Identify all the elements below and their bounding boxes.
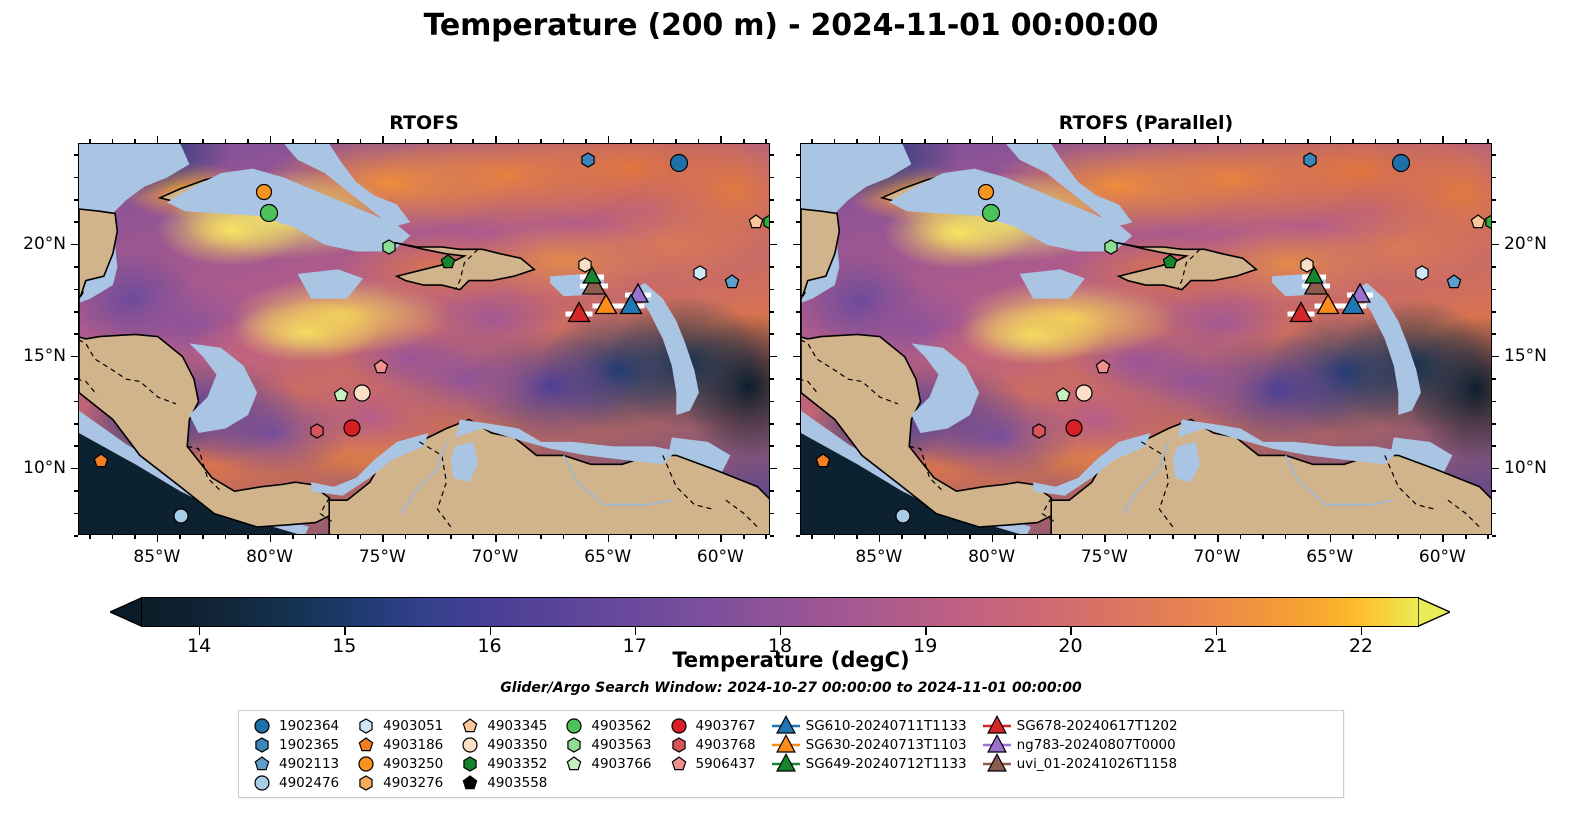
y-axis-ticklabel: 20°N	[0, 234, 66, 254]
x-axis-major-tick	[879, 136, 881, 143]
map-marker-4903768[interactable]	[1029, 421, 1049, 441]
x-axis-minor-tick	[89, 139, 91, 143]
hexagon-marker-icon	[557, 735, 591, 755]
colorbar-label: Temperature (degC)	[0, 648, 1582, 672]
x-axis-minor-tick	[315, 139, 317, 143]
y-axis-minor-tick	[74, 154, 78, 156]
x-axis-minor-tick	[834, 535, 836, 539]
x-axis-minor-tick	[1059, 535, 1061, 539]
x-axis-minor-tick	[1240, 139, 1242, 143]
x-axis-minor-tick	[743, 139, 745, 143]
legend-item[interactable]: uvi_01-20241026T1158	[977, 754, 1188, 773]
map-marker-4903350b[interactable]	[1073, 382, 1095, 404]
map-canvas-rtofs[interactable]	[78, 143, 770, 535]
x-axis-minor-tick	[1059, 139, 1061, 143]
y-axis-minor-tick	[1492, 378, 1496, 380]
legend-item[interactable]: 4903766	[557, 754, 661, 773]
x-axis-ticklabel: 60°W	[1419, 547, 1466, 567]
x-axis-ticklabel: 75°W	[1081, 547, 1128, 567]
x-axis-minor-tick	[653, 139, 655, 143]
y-axis-minor-tick	[770, 199, 774, 201]
legend-item[interactable]: 5906437	[662, 754, 766, 773]
legend-item[interactable]: 4903562	[557, 716, 661, 735]
legend-item-label: SG610-20240711T1133	[806, 718, 977, 734]
pentagon-marker-icon	[349, 735, 383, 755]
map-canvas-rtofs-parallel[interactable]	[800, 143, 1492, 535]
colorbar-tick	[344, 627, 345, 635]
x-axis-minor-tick	[1375, 535, 1377, 539]
legend-item[interactable]: 4902476	[245, 773, 349, 792]
y-axis-minor-tick	[796, 423, 800, 425]
x-axis-major-tick	[382, 535, 384, 542]
legend-item-label: 5906437	[696, 756, 766, 772]
y-axis-minor-tick	[770, 177, 774, 179]
legend-empty-cell	[662, 773, 766, 792]
x-axis-major-tick	[1104, 136, 1106, 143]
map-panel-rtofs[interactable]: RTOFS 85°W80°W75°W70°W65°W60°W1	[78, 143, 770, 535]
legend-item[interactable]: 1902365	[245, 735, 349, 754]
x-axis-major-tick	[382, 136, 384, 143]
legend-item-label: 4903768	[696, 737, 766, 753]
map-marker-4903766[interactable]	[331, 385, 351, 405]
x-axis-minor-tick	[1487, 535, 1489, 539]
x-axis-minor-tick	[179, 139, 181, 143]
y-axis-minor-tick	[796, 401, 800, 403]
map-marker-4902476[interactable]	[171, 506, 191, 526]
legend-item[interactable]: 4902113	[245, 754, 349, 773]
x-axis-minor-tick	[1307, 535, 1309, 539]
legend-item-label: 4903051	[383, 718, 453, 734]
y-axis-minor-tick	[770, 513, 774, 515]
y-axis-minor-tick	[770, 311, 774, 313]
y-axis-minor-tick	[770, 535, 774, 537]
legend-item-label: 4903345	[487, 718, 557, 734]
y-axis-minor-tick	[1492, 513, 1496, 515]
legend-item-label: SG678-20240617T1202	[1017, 718, 1188, 734]
y-axis-minor-tick	[1492, 535, 1496, 537]
x-axis-ticklabel: 70°W	[472, 547, 519, 567]
x-axis-minor-tick	[1397, 139, 1399, 143]
y-axis-minor-tick	[1492, 266, 1496, 268]
y-axis-major-tick	[793, 356, 800, 358]
x-axis-major-tick	[1104, 535, 1106, 542]
x-axis-minor-tick	[1194, 535, 1196, 539]
legend-item-label: 1902365	[279, 737, 349, 753]
coastline-overlay	[79, 144, 770, 535]
x-axis-minor-tick	[112, 535, 114, 539]
y-axis-major-tick	[770, 468, 777, 470]
x-axis-minor-tick	[811, 139, 813, 143]
x-axis-minor-tick	[540, 139, 542, 143]
triangle-marker-icon	[977, 753, 1017, 775]
x-axis-minor-tick	[947, 139, 949, 143]
x-axis-minor-tick	[247, 535, 249, 539]
circle-marker-icon	[662, 716, 696, 736]
y-axis-ticklabel: 10°N	[1504, 458, 1570, 478]
y-axis-minor-tick	[770, 401, 774, 403]
y-axis-minor-tick	[796, 311, 800, 313]
legend-item[interactable]: 4903767	[662, 716, 766, 735]
x-axis-minor-tick	[1307, 139, 1309, 143]
x-axis-minor-tick	[969, 535, 971, 539]
legend-item-label: 4902113	[279, 756, 349, 772]
legend-item[interactable]: 4903051	[349, 716, 453, 735]
x-axis-major-tick	[720, 535, 722, 542]
search-window-text: Glider/Argo Search Window: 2024-10-27 00…	[0, 680, 1582, 696]
hexagon-marker-icon	[349, 716, 383, 736]
x-axis-minor-tick	[337, 535, 339, 539]
y-axis-minor-tick	[74, 333, 78, 335]
map-marker-4903186[interactable]	[813, 451, 833, 471]
legend-item[interactable]: 4903558	[453, 773, 557, 792]
map-marker-4903562[interactable]	[257, 201, 280, 224]
y-axis-ticklabel: 15°N	[0, 346, 66, 366]
map-marker-SG649[interactable]	[578, 265, 606, 287]
map-marker-1902365[interactable]	[1300, 150, 1320, 170]
x-axis-major-tick	[495, 136, 497, 143]
hexagon-marker-icon	[349, 773, 383, 793]
x-axis-minor-tick	[901, 139, 903, 143]
y-axis-minor-tick	[770, 266, 774, 268]
map-marker-4903767[interactable]	[341, 417, 363, 439]
y-axis-minor-tick	[796, 333, 800, 335]
legend-item-label: 4903562	[591, 718, 661, 734]
legend-item[interactable]: SG678-20240617T1202	[977, 716, 1188, 735]
y-axis-ticklabel: 15°N	[1504, 346, 1570, 366]
x-axis-minor-tick	[765, 535, 767, 539]
x-axis-ticklabel: 80°W	[246, 547, 293, 567]
x-axis-minor-tick	[405, 139, 407, 143]
x-axis-minor-tick	[405, 535, 407, 539]
x-axis-minor-tick	[1127, 535, 1129, 539]
x-axis-minor-tick	[202, 535, 204, 539]
x-axis-minor-tick	[811, 535, 813, 539]
y-axis-minor-tick	[770, 154, 774, 156]
colorbar-tick	[635, 627, 636, 635]
y-axis-minor-tick	[796, 289, 800, 291]
map-marker-SG649[interactable]	[1300, 265, 1328, 287]
map-marker-4902476[interactable]	[893, 506, 913, 526]
x-axis-minor-tick	[901, 535, 903, 539]
y-axis-ticklabel: 10°N	[0, 458, 66, 478]
x-axis-minor-tick	[337, 139, 339, 143]
map-marker-1902364[interactable]	[1389, 151, 1412, 174]
y-axis-minor-tick	[770, 289, 774, 291]
x-axis-major-tick	[608, 535, 610, 542]
map-marker-4902113[interactable]	[1444, 272, 1464, 292]
x-axis-minor-tick	[1014, 535, 1016, 539]
y-axis-major-tick	[71, 356, 78, 358]
y-axis-minor-tick	[1492, 423, 1496, 425]
coastline-overlay	[801, 144, 1492, 535]
x-axis-major-tick	[270, 136, 272, 143]
y-axis-ticklabel: 20°N	[1504, 234, 1570, 254]
y-axis-minor-tick	[1492, 289, 1496, 291]
map-marker-4903562b[interactable]	[1482, 212, 1492, 232]
legend-item-label: 4903352	[487, 756, 557, 772]
y-axis-minor-tick	[74, 378, 78, 380]
map-marker-4903563[interactable]	[379, 237, 399, 257]
map-marker-4903562b[interactable]	[760, 212, 770, 232]
y-axis-minor-tick	[74, 401, 78, 403]
y-axis-minor-tick	[770, 445, 774, 447]
x-axis-minor-tick	[675, 139, 677, 143]
x-axis-major-tick	[157, 136, 159, 143]
y-axis-minor-tick	[1492, 333, 1496, 335]
map-marker-SG610[interactable]	[615, 292, 646, 317]
y-axis-minor-tick	[74, 423, 78, 425]
x-axis-minor-tick	[1487, 139, 1489, 143]
x-axis-minor-tick	[472, 139, 474, 143]
x-axis-minor-tick	[315, 535, 317, 539]
map-marker-4903186[interactable]	[91, 451, 111, 471]
x-axis-major-tick	[992, 136, 994, 143]
map-marker-4903352[interactable]	[438, 252, 458, 272]
legend-item-label: 4903767	[696, 718, 766, 734]
legend-item[interactable]: SG649-20240712T1133	[766, 754, 977, 773]
colorbar-gradient	[141, 597, 1419, 627]
x-axis-major-tick	[157, 535, 159, 542]
map-marker-SG610[interactable]	[1337, 292, 1368, 317]
map-marker-4902113[interactable]	[722, 272, 742, 292]
colorbar-extend-min	[110, 597, 142, 627]
legend-item-label: 4903250	[383, 756, 453, 772]
x-axis-major-tick	[270, 535, 272, 542]
x-axis-minor-tick	[585, 139, 587, 143]
y-axis-major-tick	[770, 356, 777, 358]
x-axis-minor-tick	[1240, 535, 1242, 539]
x-axis-ticklabel: 70°W	[1194, 547, 1241, 567]
y-axis-minor-tick	[1492, 221, 1496, 223]
map-panel-rtofs-parallel[interactable]: RTOFS (Parallel) 85°W80°W75°W70	[800, 143, 1492, 535]
map-marker-4903051[interactable]	[1412, 263, 1432, 283]
x-axis-minor-tick	[134, 535, 136, 539]
y-axis-major-tick	[71, 468, 78, 470]
legend-empty-cell	[766, 773, 977, 792]
y-axis-minor-tick	[770, 221, 774, 223]
panel-title-rtofs: RTOFS	[78, 112, 770, 134]
map-marker-4903563[interactable]	[1101, 237, 1121, 257]
legend-item-label: 1902364	[279, 718, 349, 734]
legend-item[interactable]: 4903250	[349, 754, 453, 773]
map-marker-4903352[interactable]	[1160, 252, 1180, 272]
map-marker-4903562[interactable]	[979, 201, 1002, 224]
x-axis-minor-tick	[1149, 535, 1151, 539]
colorbar: 141516171819202122	[110, 597, 1450, 627]
x-axis-minor-tick	[1465, 139, 1467, 143]
colorbar-tick	[780, 627, 781, 635]
y-axis-minor-tick	[1492, 311, 1496, 313]
colorbar-tick	[1216, 627, 1217, 635]
map-marker-1902365[interactable]	[578, 150, 598, 170]
x-axis-minor-tick	[563, 139, 565, 143]
legend-item-label: uvi_01-20241026T1158	[1017, 756, 1187, 772]
circle-marker-icon	[245, 716, 279, 736]
x-axis-minor-tick	[1262, 139, 1264, 143]
x-axis-minor-tick	[472, 535, 474, 539]
x-axis-minor-tick	[450, 139, 452, 143]
legend-item[interactable]: SG630-20240713T1103	[766, 735, 977, 754]
x-axis-minor-tick	[834, 139, 836, 143]
x-axis-minor-tick	[540, 535, 542, 539]
x-axis-minor-tick	[292, 535, 294, 539]
legend-item[interactable]: ng783-20240807T0000	[977, 735, 1188, 754]
x-axis-minor-tick	[1172, 139, 1174, 143]
x-axis-minor-tick	[765, 139, 767, 143]
y-axis-major-tick	[793, 468, 800, 470]
x-axis-ticklabel: 65°W	[584, 547, 631, 567]
y-axis-minor-tick	[74, 535, 78, 537]
x-axis-minor-tick	[1420, 139, 1422, 143]
map-marker-4903768[interactable]	[307, 421, 327, 441]
y-axis-minor-tick	[74, 513, 78, 515]
y-axis-minor-tick	[796, 535, 800, 537]
legend-item[interactable]: 4903186	[349, 735, 453, 754]
y-axis-minor-tick	[74, 266, 78, 268]
x-axis-minor-tick	[856, 139, 858, 143]
legend-empty-cell	[977, 773, 1188, 792]
x-axis-minor-tick	[1285, 139, 1287, 143]
colorbar-extend-max	[1418, 597, 1450, 627]
x-axis-minor-tick	[1352, 535, 1354, 539]
map-marker-5906437[interactable]	[1093, 357, 1113, 377]
legend-box[interactable]: 1902364190236549021134902476490305149031…	[238, 710, 1344, 798]
legend-item[interactable]: 4903563	[557, 735, 661, 754]
map-marker-SG678[interactable]	[563, 301, 594, 326]
x-axis-minor-tick	[202, 139, 204, 143]
x-axis-minor-tick	[518, 535, 520, 539]
map-marker-4903767[interactable]	[1063, 417, 1085, 439]
x-axis-minor-tick	[89, 535, 91, 539]
map-marker-5906437[interactable]	[371, 357, 391, 377]
y-axis-major-tick	[71, 244, 78, 246]
y-axis-minor-tick	[74, 311, 78, 313]
x-axis-minor-tick	[292, 139, 294, 143]
x-axis-minor-tick	[1014, 139, 1016, 143]
y-axis-major-tick	[1492, 468, 1499, 470]
legend-item[interactable]: 4903345	[453, 716, 557, 735]
legend-item[interactable]: 4903768	[662, 735, 766, 754]
colorbar-tick	[1070, 627, 1071, 635]
legend-item[interactable]: 4903350	[453, 735, 557, 754]
hexagon-marker-icon	[245, 735, 279, 755]
x-axis-minor-tick	[1037, 535, 1039, 539]
x-axis-minor-tick	[856, 535, 858, 539]
legend-item-label: 4903558	[487, 775, 557, 791]
map-marker-4903051[interactable]	[690, 263, 710, 283]
x-axis-minor-tick	[585, 535, 587, 539]
x-axis-major-tick	[1330, 136, 1332, 143]
legend-grid: 1902364190236549021134902476490305149031…	[245, 716, 1188, 792]
x-axis-minor-tick	[1375, 139, 1377, 143]
legend-empty-cell	[557, 773, 661, 792]
x-axis-minor-tick	[360, 535, 362, 539]
y-axis-minor-tick	[796, 378, 800, 380]
map-marker-1902364[interactable]	[667, 151, 690, 174]
y-axis-minor-tick	[770, 490, 774, 492]
map-marker-4903250[interactable]	[976, 181, 997, 202]
pentagon-marker-icon	[453, 716, 487, 736]
legend-item-label: ng783-20240807T0000	[1017, 737, 1186, 753]
y-axis-minor-tick	[1492, 445, 1496, 447]
x-axis-ticklabel: 75°W	[359, 547, 406, 567]
x-axis-minor-tick	[225, 535, 227, 539]
y-axis-minor-tick	[770, 333, 774, 335]
circle-marker-icon	[349, 754, 383, 774]
x-axis-minor-tick	[653, 535, 655, 539]
y-axis-minor-tick	[796, 490, 800, 492]
legend-item-label: SG649-20240712T1133	[806, 756, 977, 772]
x-axis-minor-tick	[630, 139, 632, 143]
legend-item[interactable]: SG610-20240711T1133	[766, 716, 977, 735]
x-axis-ticklabel: 80°W	[968, 547, 1015, 567]
map-marker-4903250[interactable]	[254, 181, 275, 202]
legend-item[interactable]: 4903352	[453, 754, 557, 773]
map-marker-4903766[interactable]	[1053, 385, 1073, 405]
y-axis-minor-tick	[74, 490, 78, 492]
map-marker-4903350b[interactable]	[351, 382, 373, 404]
y-axis-minor-tick	[1492, 401, 1496, 403]
x-axis-major-tick	[879, 535, 881, 542]
legend-item[interactable]: 4903276	[349, 773, 453, 792]
circle-marker-icon	[557, 716, 591, 736]
y-axis-minor-tick	[74, 289, 78, 291]
x-axis-ticklabel: 60°W	[697, 547, 744, 567]
y-axis-minor-tick	[1492, 199, 1496, 201]
x-axis-minor-tick	[630, 535, 632, 539]
x-axis-major-tick	[608, 136, 610, 143]
y-axis-minor-tick	[796, 199, 800, 201]
y-axis-minor-tick	[770, 378, 774, 380]
x-axis-minor-tick	[1465, 535, 1467, 539]
colorbar-tick	[1361, 627, 1362, 635]
y-axis-major-tick	[793, 244, 800, 246]
panel-title-rtofs-parallel: RTOFS (Parallel)	[800, 112, 1492, 134]
figure-title: Temperature (200 m) - 2024-11-01 00:00:0…	[0, 8, 1582, 43]
legend-item-label: 4903350	[487, 737, 557, 753]
x-axis-major-tick	[495, 535, 497, 542]
x-axis-minor-tick	[360, 139, 362, 143]
y-axis-minor-tick	[1492, 490, 1496, 492]
y-axis-minor-tick	[796, 221, 800, 223]
x-axis-minor-tick	[1397, 535, 1399, 539]
x-axis-minor-tick	[698, 535, 700, 539]
x-axis-ticklabel: 65°W	[1306, 547, 1353, 567]
x-axis-minor-tick	[698, 139, 700, 143]
y-axis-minor-tick	[796, 445, 800, 447]
x-axis-minor-tick	[947, 535, 949, 539]
x-axis-minor-tick	[1172, 535, 1174, 539]
y-axis-minor-tick	[74, 445, 78, 447]
x-axis-major-tick	[720, 136, 722, 143]
x-axis-minor-tick	[1127, 139, 1129, 143]
x-axis-major-tick	[1442, 136, 1444, 143]
x-axis-minor-tick	[743, 535, 745, 539]
x-axis-minor-tick	[675, 535, 677, 539]
circle-marker-icon	[245, 773, 279, 793]
circle-marker-icon	[453, 735, 487, 755]
legend-item[interactable]: 1902364	[245, 716, 349, 735]
y-axis-minor-tick	[796, 177, 800, 179]
x-axis-minor-tick	[179, 535, 181, 539]
pentagon-marker-icon	[245, 754, 279, 774]
map-marker-SG678[interactable]	[1285, 301, 1316, 326]
x-axis-minor-tick	[1082, 139, 1084, 143]
x-axis-minor-tick	[924, 535, 926, 539]
colorbar-tick	[925, 627, 926, 635]
legend-item-label: 4903276	[383, 775, 453, 791]
hexagon-marker-icon	[453, 754, 487, 774]
